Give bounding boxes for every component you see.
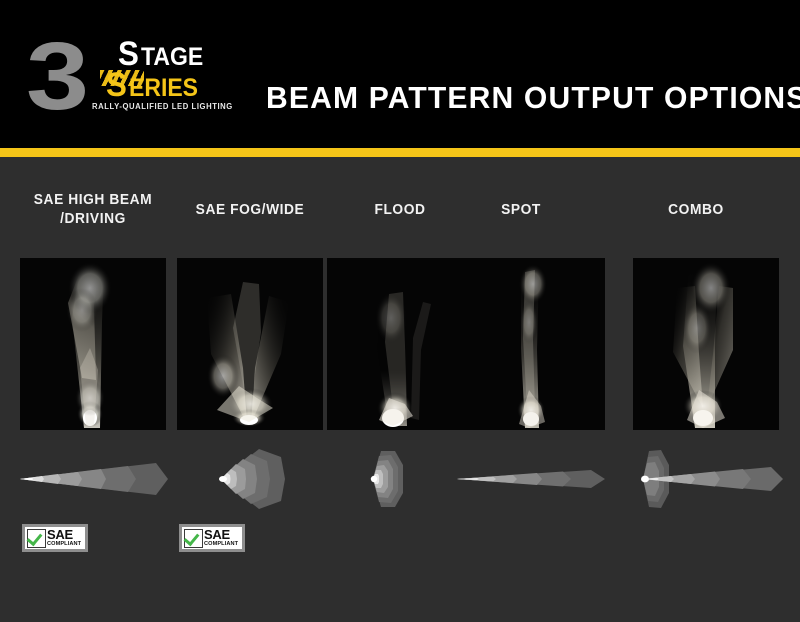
page-header: 3 STAGE SERIES RALLY-QUALIFIED LED LIGHT… <box>0 0 800 148</box>
beam-photo-sae-fog-wide <box>177 258 323 430</box>
beam-photo-render <box>327 258 473 430</box>
beam-spread-diagram-combo <box>619 445 794 513</box>
beam-spread-render <box>163 445 338 513</box>
page-title: BEAM PATTERN OUTPUT OPTIONS <box>266 80 800 116</box>
column-label: SPOT <box>440 201 602 220</box>
beam-spread-render <box>619 445 794 513</box>
brand-logo: 3 STAGE SERIES RALLY-QUALIFIED LED LIGHT… <box>26 33 241 128</box>
beam-spread-diagram-sae-high-beam-driving <box>6 445 181 513</box>
check-icon <box>184 529 203 548</box>
sae-badge-subtitle: COMPLIANT <box>47 542 81 548</box>
beam-spread-diagram-spot <box>445 445 620 513</box>
beam-pattern-grid: SAE HIGH BEAM /DRIVING <box>0 157 800 622</box>
column-label-line1: SAE HIGH BEAM <box>34 192 152 208</box>
sae-compliant-badge: SAE COMPLIANT <box>179 524 245 552</box>
beam-photo-render <box>633 258 779 430</box>
sae-badge-subtitle: COMPLIANT <box>204 542 238 548</box>
logo-tagline: RALLY-QUALIFIED LED LIGHTING <box>92 102 233 111</box>
beam-spread-render <box>445 445 620 513</box>
column-label-line1: SPOT <box>501 202 541 218</box>
beam-spread-render <box>6 445 181 513</box>
beam-photo-combo <box>633 258 779 430</box>
sae-badge-title: SAE <box>47 528 81 541</box>
logo-series-initial: S <box>106 68 127 102</box>
beam-photo-flood <box>327 258 473 430</box>
beam-spread-diagram-sae-fog-wide <box>163 445 338 513</box>
beam-photo-render <box>20 258 166 430</box>
beam-photo-sae-high-beam-driving <box>20 258 166 430</box>
beam-photo-render <box>459 258 605 430</box>
column-label-line1: SAE FOG/WIDE <box>196 202 305 218</box>
logo-numeral-3: 3 <box>26 29 84 125</box>
logo-word-stage: STAGE <box>118 37 208 71</box>
logo-series-rest: ERIES <box>129 71 198 105</box>
column-label-line1: COMBO <box>668 202 724 218</box>
check-icon <box>27 529 46 548</box>
column-label: SAE HIGH BEAM /DRIVING <box>12 191 174 229</box>
beam-photo-render <box>177 258 323 430</box>
beam-photo-spot <box>459 258 605 430</box>
column-label: COMBO <box>615 201 777 220</box>
column-label-line1: FLOOD <box>374 202 425 218</box>
column-label-line2: /DRIVING <box>60 211 126 227</box>
sae-compliant-badge: SAE COMPLIANT <box>22 524 88 552</box>
logo-word-series: SERIES <box>106 68 204 102</box>
sae-badge-title: SAE <box>204 528 238 541</box>
header-divider-bar <box>0 148 800 157</box>
column-label: SAE FOG/WIDE <box>169 201 331 220</box>
